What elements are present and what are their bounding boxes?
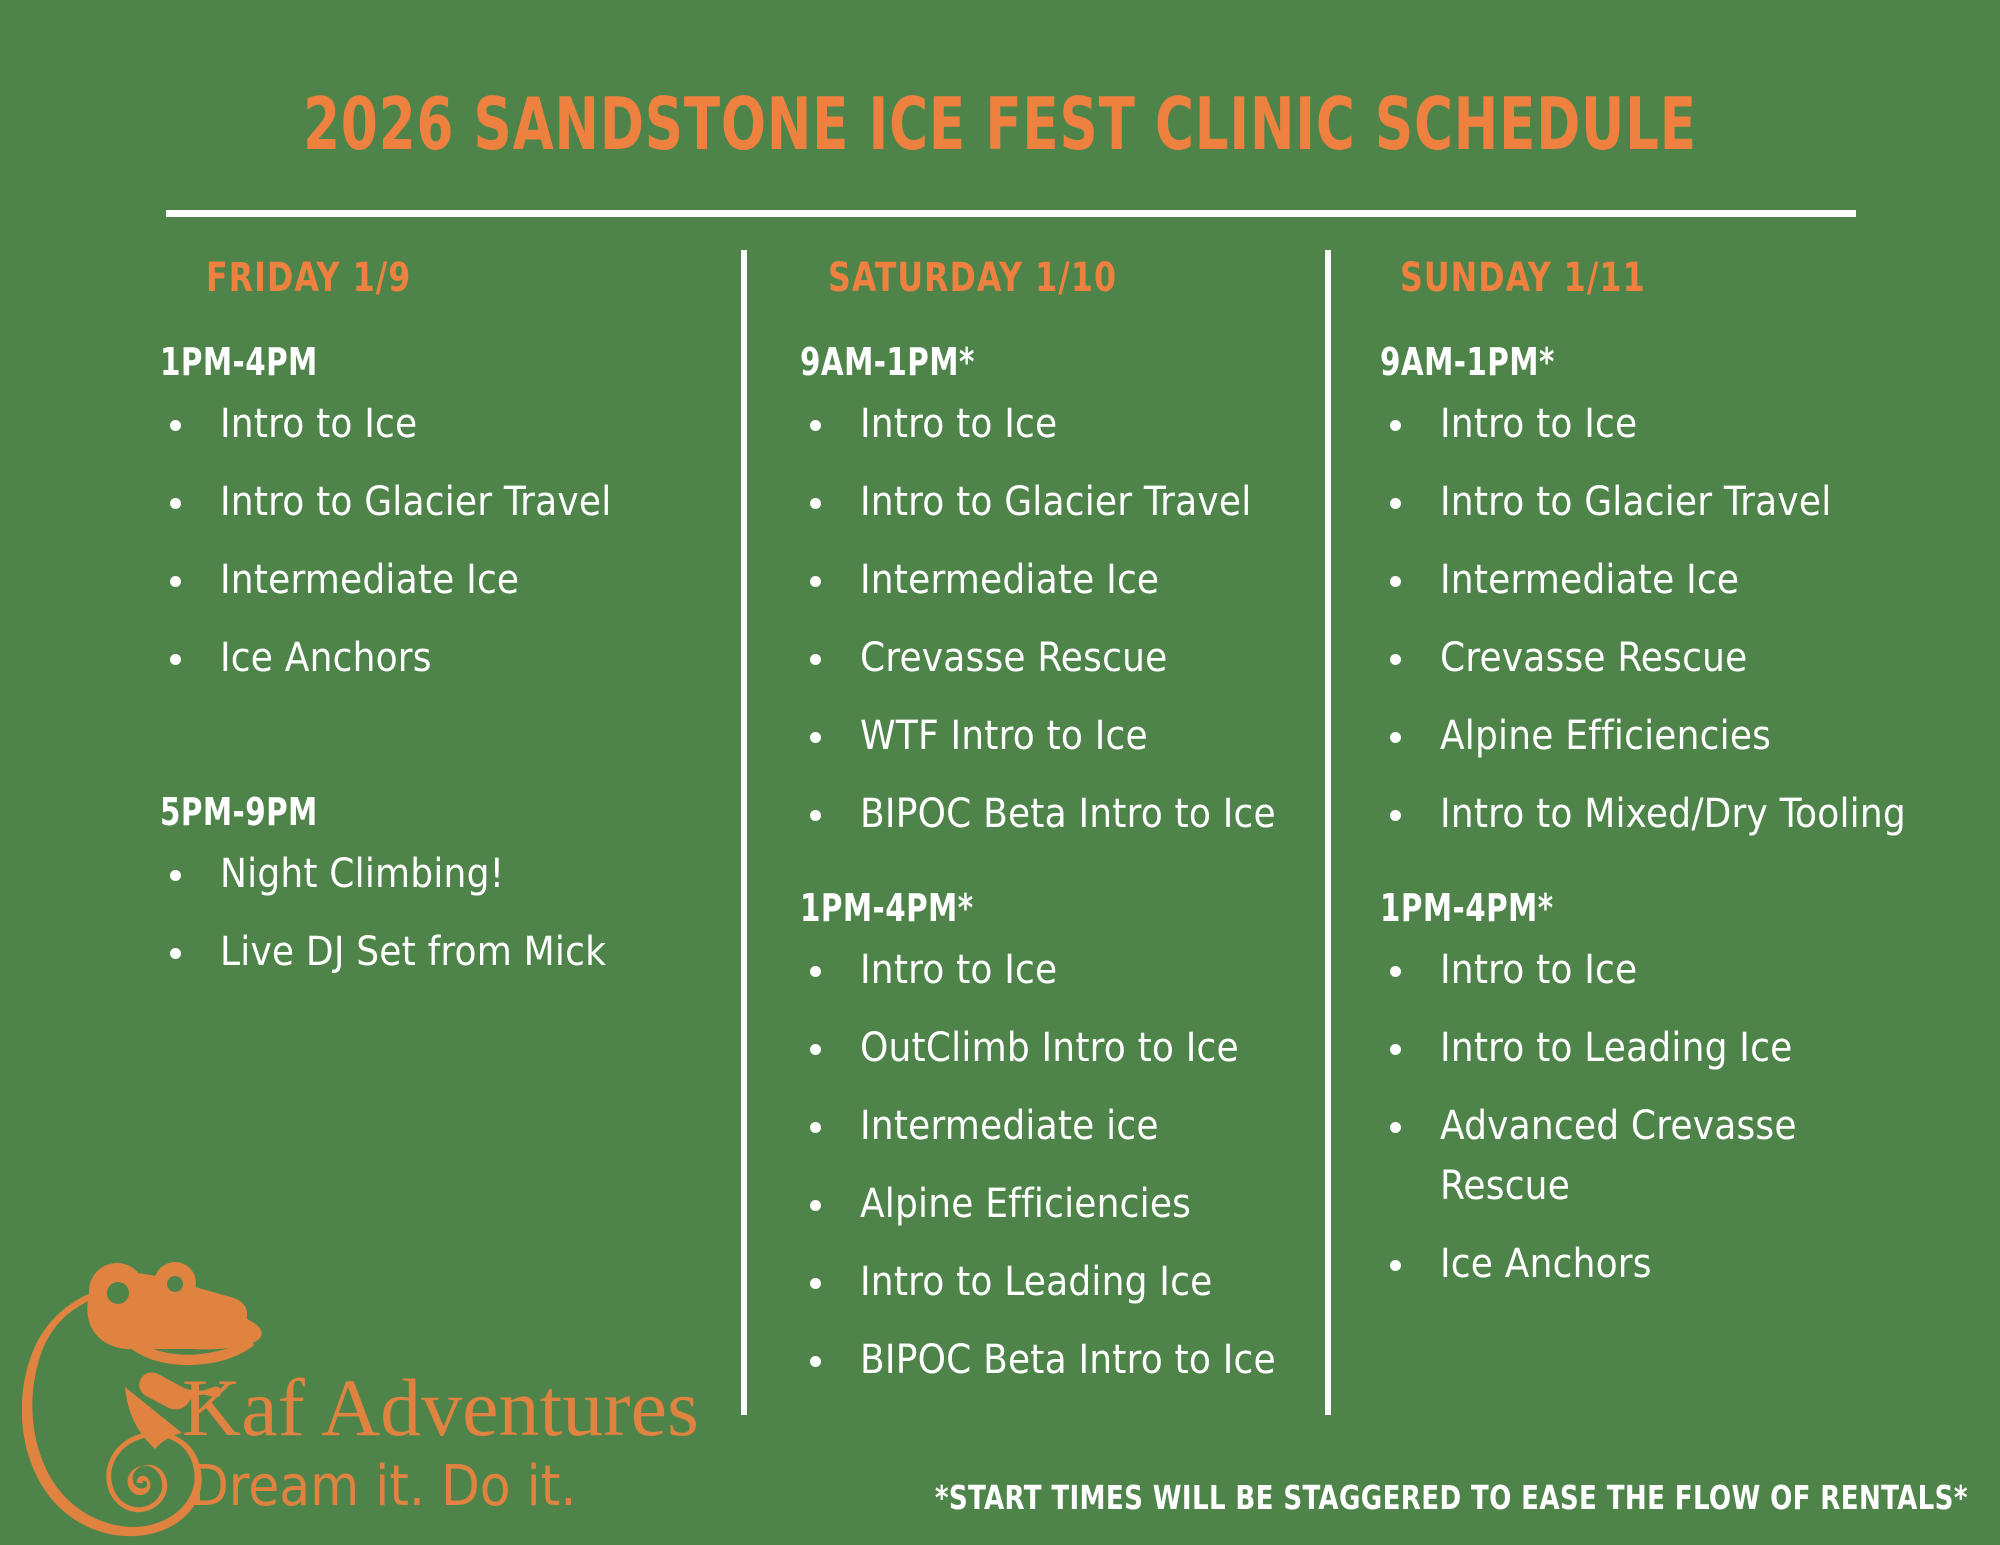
list-item: Intermediate Ice bbox=[1380, 550, 1910, 610]
list-item: Crevasse Rescue bbox=[1380, 628, 1910, 688]
day-heading-saturday: SATURDAY 1/10 bbox=[828, 258, 1243, 298]
list-item: Crevasse Rescue bbox=[800, 628, 1300, 688]
slot-time-label: 1PM-4PM bbox=[160, 342, 642, 384]
list-item: Advanced Crevasse Rescue bbox=[1380, 1096, 1880, 1216]
list-item: Intermediate Ice bbox=[800, 550, 1300, 610]
day-column-sunday: SUNDAY 1/11 9AM-1PM* Intro to Ice Intro … bbox=[1380, 258, 1910, 1312]
clinic-list: Intro to Ice Intro to Glacier Travel Int… bbox=[1380, 394, 1910, 844]
time-slot: 5PM-9PM Night Climbing! Live DJ Set from… bbox=[160, 792, 720, 982]
clinic-list: Intro to Ice Intro to Leading Ice Advanc… bbox=[1380, 940, 1910, 1294]
list-item: BIPOC Beta Intro to Ice bbox=[800, 1330, 1300, 1390]
clinic-list: Night Climbing! Live DJ Set from Mick bbox=[160, 844, 720, 982]
day-heading-friday: FRIDAY 1/9 bbox=[206, 258, 658, 298]
list-item: Live DJ Set from Mick bbox=[160, 922, 720, 982]
logo-name: Kaf Adventures bbox=[182, 1367, 762, 1449]
clinic-list: Intro to Ice Intro to Glacier Travel Int… bbox=[800, 394, 1300, 844]
column-spacer bbox=[160, 706, 720, 792]
list-item: Intro to Mixed/Dry Tooling bbox=[1380, 784, 1910, 844]
list-item: Ice Anchors bbox=[160, 628, 720, 688]
footnote: *START TIMES WILL BE STAGGERED TO EASE T… bbox=[935, 1478, 1968, 1517]
time-slot: 1PM-4PM Intro to Ice Intro to Glacier Tr… bbox=[160, 342, 720, 688]
slot-time-label: 1PM-4PM* bbox=[1380, 888, 1836, 930]
list-item: Intro to Glacier Travel bbox=[160, 472, 720, 532]
list-item: Intro to Ice bbox=[160, 394, 720, 454]
day-heading-sunday: SUNDAY 1/11 bbox=[1400, 258, 1849, 298]
time-slot: 9AM-1PM* Intro to Ice Intro to Glacier T… bbox=[800, 342, 1300, 844]
list-item: OutClimb Intro to Ice bbox=[800, 1018, 1300, 1078]
slot-time-label: 5PM-9PM bbox=[160, 792, 642, 834]
list-item: Intro to Glacier Travel bbox=[800, 472, 1300, 532]
schedule-poster: 2026 SANDSTONE ICE FEST CLINIC SCHEDULE … bbox=[0, 0, 2000, 1545]
brand-logo: Kaf Adventures Dream it. Do it. bbox=[22, 1237, 762, 1537]
list-item: Intro to Ice bbox=[1380, 940, 1910, 1000]
list-item: BIPOC Beta Intro to Ice bbox=[800, 784, 1300, 844]
list-item: Ice Anchors bbox=[1380, 1234, 1910, 1294]
list-item: Intermediate ice bbox=[800, 1096, 1300, 1156]
day-column-saturday: SATURDAY 1/10 9AM-1PM* Intro to Ice Intr… bbox=[800, 258, 1300, 1408]
day-column-friday: FRIDAY 1/9 1PM-4PM Intro to Ice Intro to… bbox=[160, 258, 720, 1000]
list-item: WTF Intro to Ice bbox=[800, 706, 1300, 766]
list-item: Intro to Ice bbox=[800, 940, 1300, 1000]
clinic-list: Intro to Ice OutClimb Intro to Ice Inter… bbox=[800, 940, 1300, 1390]
list-item: Intro to Leading Ice bbox=[1380, 1018, 1910, 1078]
slot-time-label: 9AM-1PM* bbox=[800, 342, 1230, 384]
logo-wordmark: Kaf Adventures Dream it. Do it. bbox=[182, 1367, 762, 1515]
slot-time-label: 1PM-4PM* bbox=[800, 888, 1230, 930]
list-item: Alpine Efficiencies bbox=[800, 1174, 1300, 1234]
list-item: Alpine Efficiencies bbox=[1380, 706, 1910, 766]
list-item: Intro to Ice bbox=[800, 394, 1300, 454]
time-slot: 9AM-1PM* Intro to Ice Intro to Glacier T… bbox=[1380, 342, 1910, 844]
clinic-list: Intro to Ice Intro to Glacier Travel Int… bbox=[160, 394, 720, 688]
slot-time-label: 9AM-1PM* bbox=[1380, 342, 1836, 384]
list-item: Intermediate Ice bbox=[160, 550, 720, 610]
time-slot: 1PM-4PM* Intro to Ice OutClimb Intro to … bbox=[800, 888, 1300, 1390]
time-slot: 1PM-4PM* Intro to Ice Intro to Leading I… bbox=[1380, 888, 1910, 1294]
list-item: Night Climbing! bbox=[160, 844, 720, 904]
list-item: Intro to Ice bbox=[1380, 394, 1910, 454]
list-item: Intro to Leading Ice bbox=[800, 1252, 1300, 1312]
list-item: Intro to Glacier Travel bbox=[1380, 472, 1910, 532]
logo-tagline: Dream it. Do it. bbox=[190, 1459, 762, 1515]
